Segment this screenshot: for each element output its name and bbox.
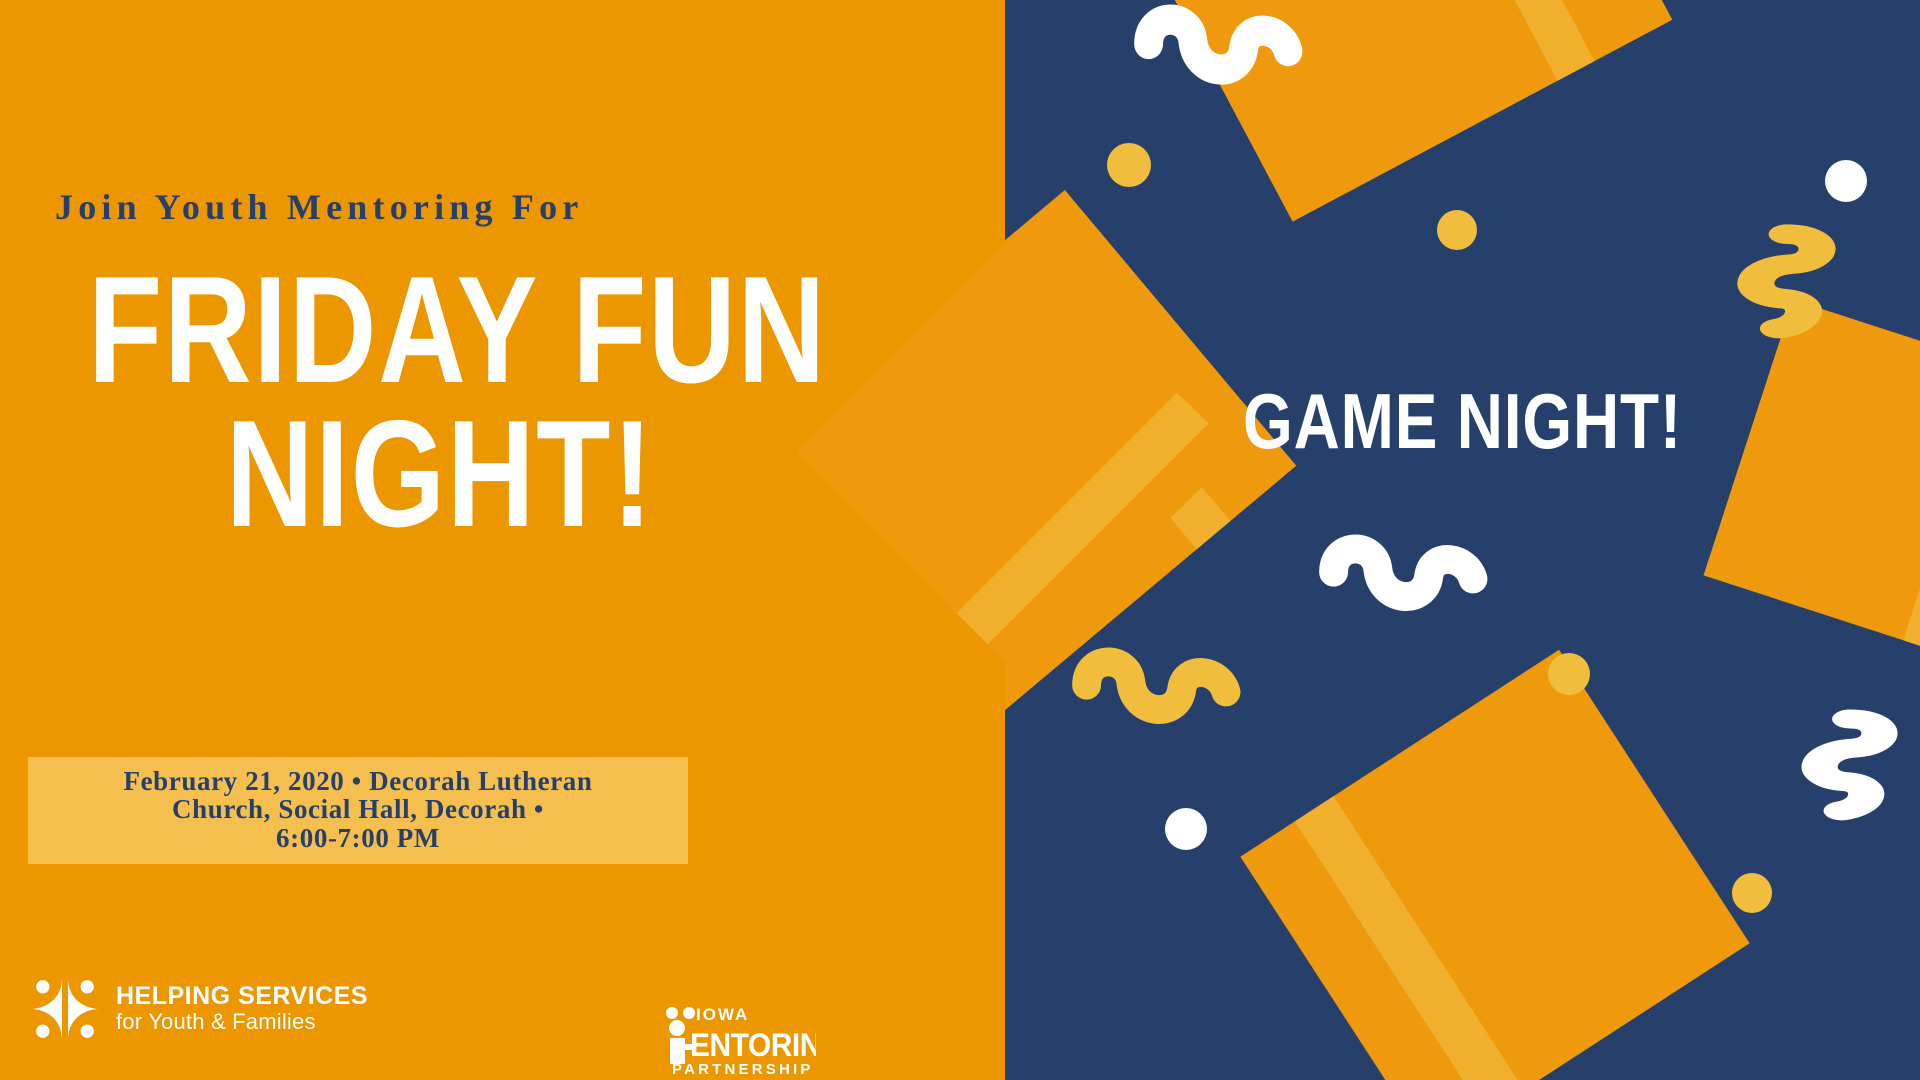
confetti-dot-white-1 [1825, 160, 1867, 202]
confetti-stripe [1240, 679, 1600, 1080]
event-date-location-line-2: Church, Social Hall, Decorah • [42, 795, 674, 823]
event-time-line: 6:00-7:00 PM [42, 824, 674, 852]
confetti-dot-gold-4 [1732, 873, 1772, 913]
left-orange-panel: Join Youth Mentoring For FRIDAY FUN NIGH… [0, 0, 1005, 1080]
helping-services-subtitle: for Youth & Families [116, 1009, 368, 1035]
helping-services-wordmark: HELPING SERVICES for Youth & Families [116, 983, 368, 1036]
squiggle-gold-right [1700, 225, 1835, 340]
helping-services-logo: HELPING SERVICES for Youth & Families [28, 972, 368, 1046]
confetti-dot-gold-3 [1548, 653, 1590, 695]
eyebrow-text: Join Youth Mentoring For [55, 186, 583, 228]
squiggle-white-top [1135, 5, 1305, 115]
svg-text:ENTORING: ENTORING [690, 1027, 816, 1063]
event-details-banner: February 21, 2020 • Decorah Lutheran Chu… [28, 757, 688, 864]
svg-text:IOWA: IOWA [696, 1005, 749, 1024]
page-title: FRIDAY FUN NIGHT! [0, 258, 880, 547]
headline-line-2: NIGHT! [88, 402, 792, 546]
confetti-stripe [1867, 300, 1920, 681]
helping-services-title: HELPING SERVICES [116, 983, 368, 1009]
squiggle-white-bottom [1765, 710, 1897, 822]
svg-text:PARTNERSHIP: PARTNERSHIP [672, 1061, 814, 1078]
confetti-stripe [1341, 0, 1657, 197]
confetti-rect-bottom-center [1240, 650, 1749, 1080]
confetti-dot-white-2 [1165, 808, 1207, 850]
iowa-mentoring-partnership-logo: IOWA ENTORING PARTNERSHIP [664, 1000, 816, 1078]
game-night-headline: GAME NIGHT! [1087, 382, 1837, 460]
four-point-star-people-icon [28, 972, 102, 1046]
squiggle-white-mid [1320, 535, 1490, 640]
event-date-location-line-1: February 21, 2020 • Decorah Lutheran [42, 767, 674, 795]
confetti-dot-gold-1 [1107, 143, 1151, 187]
squiggle-gold-bottom [1073, 648, 1243, 753]
event-flyer: Join Youth Mentoring For FRIDAY FUN NIGH… [0, 0, 1920, 1080]
confetti-dot-gold-2 [1437, 210, 1477, 250]
confetti-rect-mid-right [1704, 300, 1920, 681]
headline-line-1: FRIDAY FUN [88, 258, 792, 402]
